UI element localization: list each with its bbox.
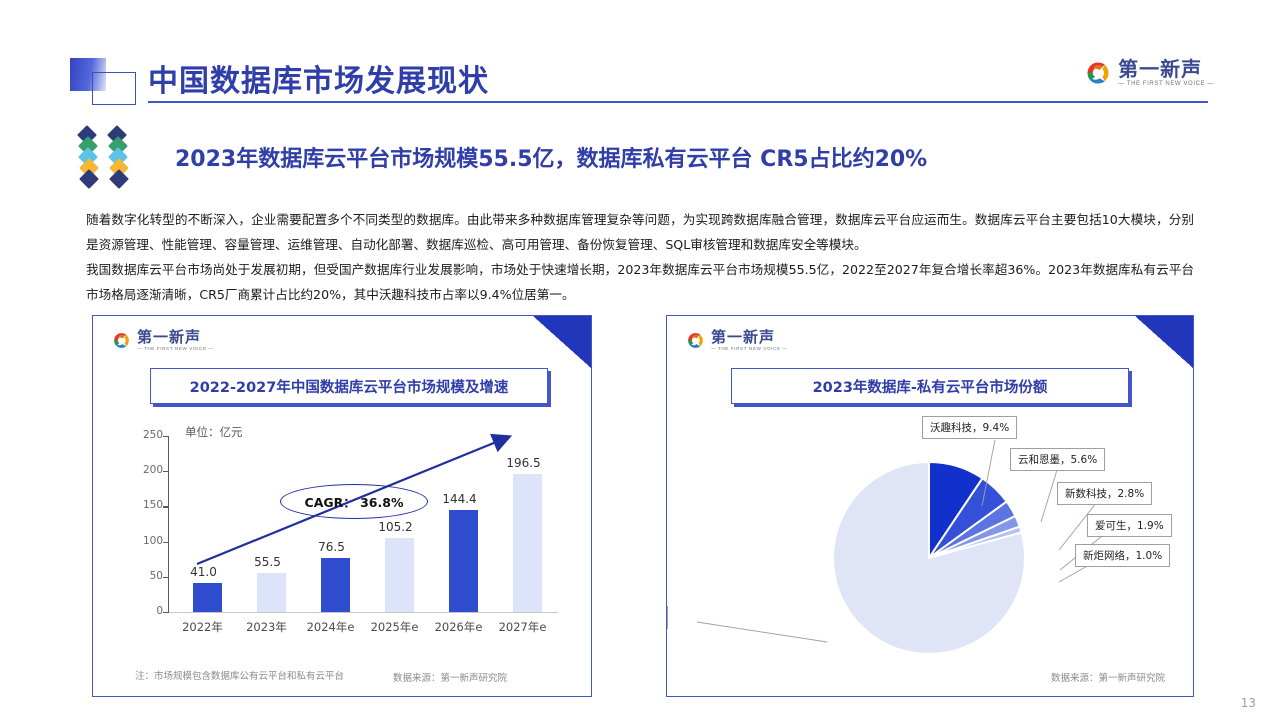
bar-value-label: 144.4	[427, 492, 492, 506]
header-decoration-squares	[70, 58, 152, 106]
card-corner-decoration	[533, 316, 591, 368]
right-chart-title-box: 2023年数据库-私有云平台市场份额	[731, 368, 1129, 404]
card-corner-decoration	[1135, 316, 1193, 368]
globe-icon	[111, 330, 132, 351]
bar-chart-x-tick-label: 2023年	[234, 619, 299, 635]
bar-chart-y-tick	[163, 612, 169, 613]
diamond-shape	[109, 169, 129, 189]
page-title: 中国数据库市场发展现状	[148, 56, 489, 100]
bar-chart: 单位：亿元 050100150200250 41.055.576.5105.21…	[93, 424, 592, 654]
bar-value-label: 196.5	[491, 456, 556, 470]
bar	[513, 474, 542, 612]
pie-callout-label: 其他，79.3%	[666, 606, 668, 629]
bar	[385, 538, 414, 612]
bar-chart-x-tick-label: 2022年	[170, 619, 235, 635]
logo-chinese-name: 第一新声	[1118, 59, 1214, 79]
bar-chart-x-axis	[168, 612, 558, 613]
logo-english-tagline: — THE FIRST NEW VOICE —	[711, 347, 788, 352]
bar-value-label: 105.2	[363, 520, 428, 534]
logo-chinese-name: 第一新声	[137, 330, 214, 345]
body-paragraphs: 随着数字化转型的不断深入，企业需要配置多个不同类型的数据库。由此带来多种数据库管…	[86, 207, 1194, 307]
bar	[193, 583, 222, 612]
left-chart-title-box: 2022-2027年中国数据库云平台市场规模及增速	[150, 368, 548, 404]
logo-text-block: 第一新声 — THE FIRST NEW VOICE —	[1118, 59, 1214, 87]
globe-icon	[685, 330, 706, 351]
pie-chart: 沃趣科技，9.4%云和恩墨，5.6%新数科技，2.8%爱可生，1.9%新炬网络，…	[667, 416, 1194, 666]
pie-callout-label: 爱可生，1.9%	[1087, 514, 1172, 537]
body-paragraph-2: 我国数据库云平台市场尚处于发展初期，但受国产数据库行业发展影响，市场处于快速增长…	[86, 257, 1194, 307]
card-brand-logo-left: 第一新声 — THE FIRST NEW VOICE —	[111, 330, 214, 352]
right-chart-title: 2023年数据库-私有云平台市场份额	[813, 376, 1048, 397]
pie-callout-label: 沃趣科技，9.4%	[922, 416, 1017, 439]
left-chart-card: 第一新声 — THE FIRST NEW VOICE — 2022-2027年中…	[92, 315, 592, 697]
right-chart-source: 数据来源：第一新声研究院	[1051, 670, 1165, 684]
pie-callout-label: 新数科技，2.8%	[1057, 482, 1152, 505]
pie-callout-label: 云和恩墨，5.6%	[1010, 448, 1105, 471]
callout-leader-line	[1041, 470, 1057, 522]
bar-chart-plot-area: 41.055.576.5105.2144.4196.5	[93, 436, 483, 612]
logo-english-tagline: — THE FIRST NEW VOICE —	[137, 347, 214, 352]
bar-value-label: 41.0	[171, 565, 236, 579]
logo-english-tagline: — THE FIRST NEW VOICE —	[1118, 81, 1214, 87]
globe-icon	[1083, 58, 1113, 88]
pie-callout-label: 新炬网络，1.0%	[1075, 544, 1170, 567]
callout-leader-line	[982, 440, 995, 506]
bar	[449, 510, 478, 612]
slide-root: 中国数据库市场发展现状 第一新声 — THE FIRST NEW VOICE —…	[0, 0, 1280, 720]
bar-chart-x-tick-labels: 2022年2023年2024年e2025年e2026年e2027年e	[168, 619, 558, 639]
header-square-outline	[92, 72, 136, 105]
logo-text-block: 第一新声 — THE FIRST NEW VOICE —	[137, 330, 214, 352]
bar-chart-x-tick-label: 2027年e	[490, 619, 555, 635]
bar-chart-x-tick-label: 2024年e	[298, 619, 363, 635]
bar	[257, 573, 286, 612]
bar-value-label: 55.5	[235, 555, 300, 569]
bar-chart-x-tick-label: 2026年e	[426, 619, 491, 635]
brand-logo: 第一新声 — THE FIRST NEW VOICE —	[1083, 58, 1214, 88]
bar-chart-x-tick-label: 2025年e	[362, 619, 427, 635]
body-paragraph-1: 随着数字化转型的不断深入，企业需要配置多个不同类型的数据库。由此带来多种数据库管…	[86, 207, 1194, 257]
card-brand-logo-right: 第一新声 — THE FIRST NEW VOICE —	[685, 330, 788, 352]
diamond-shape	[79, 169, 99, 189]
cagr-annotation: CAGR： 36.8%	[280, 484, 428, 519]
cagr-annotation-label: CAGR： 36.8%	[305, 492, 404, 511]
page-number: 13	[1241, 696, 1256, 710]
callout-leader-line	[697, 622, 827, 642]
left-chart-source: 数据来源：第一新声研究院	[393, 670, 507, 684]
left-chart-note: 注：市场规模包含数据库公有云平台和私有云平台	[135, 668, 344, 682]
diamond-cluster-icon	[80, 128, 152, 186]
bar	[321, 558, 350, 612]
left-chart-title: 2022-2027年中国数据库云平台市场规模及增速	[190, 376, 509, 397]
bar-value-label: 76.5	[299, 540, 364, 554]
title-divider	[148, 101, 1208, 103]
callout-leader-lines	[667, 416, 1194, 666]
logo-text-block: 第一新声 — THE FIRST NEW VOICE —	[711, 330, 788, 352]
right-chart-card: 第一新声 — THE FIRST NEW VOICE — 2023年数据库-私有…	[666, 315, 1194, 697]
section-subheading: 2023年数据库云平台市场规模55.5亿，数据库私有云平台 CR5占比约20%	[175, 141, 927, 173]
logo-chinese-name: 第一新声	[711, 330, 788, 345]
